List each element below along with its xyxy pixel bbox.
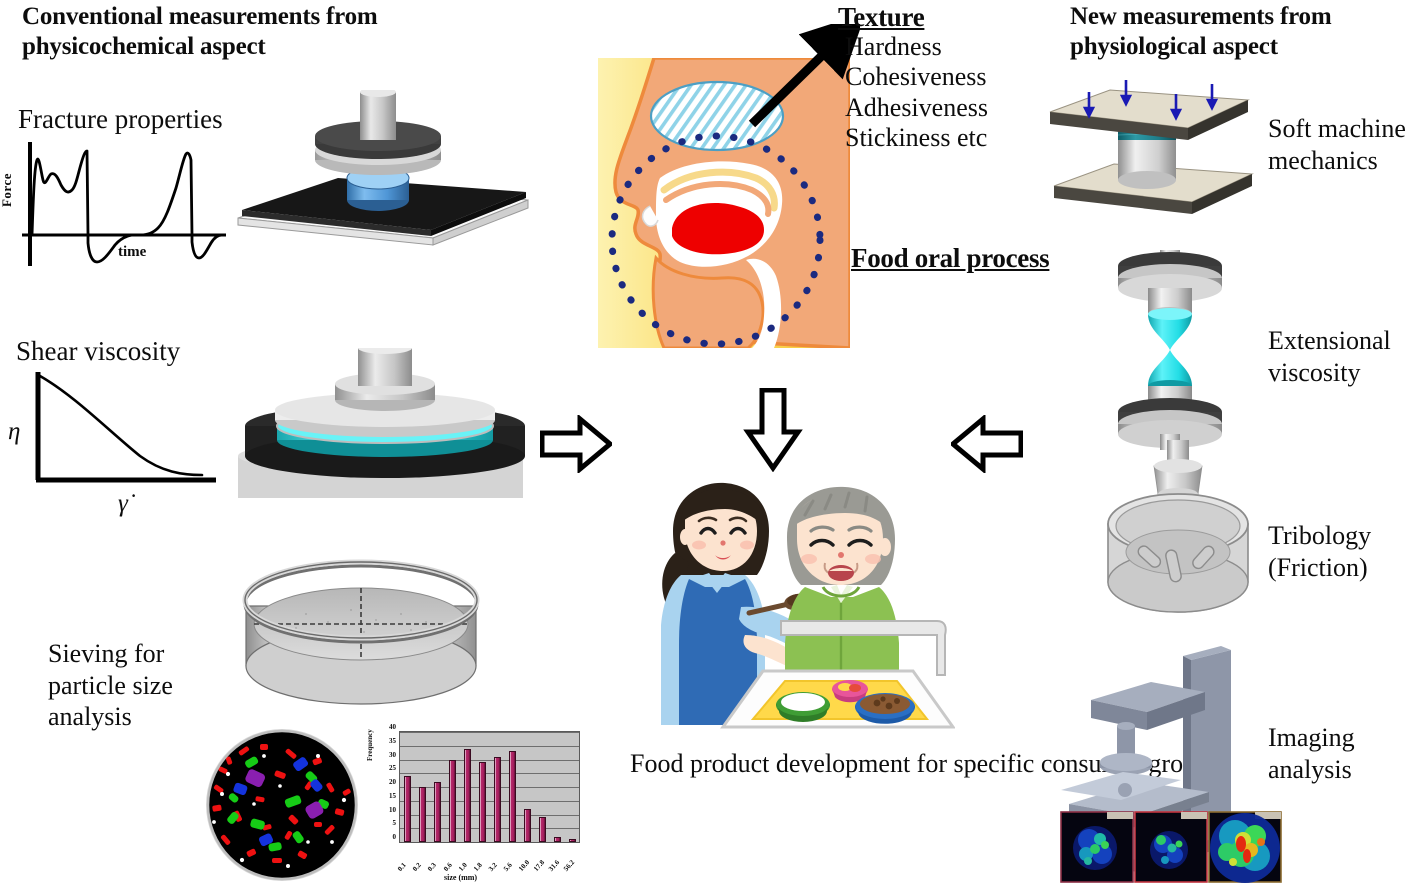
histogram-x-tick: 1.0 xyxy=(457,861,469,873)
texture-pointer-arrow xyxy=(740,24,860,134)
histogram-y-tick: 15 xyxy=(389,792,396,800)
histogram-y-tick: 25 xyxy=(389,764,396,772)
tribology-friction-illustration xyxy=(1082,440,1282,660)
extensional-viscosity-illustration xyxy=(1098,250,1260,450)
histogram-bar xyxy=(434,782,441,843)
texture-attribute-0: Hardness xyxy=(845,32,988,62)
histogram-gridline xyxy=(400,815,579,816)
texture-attribute-1: Cohesiveness xyxy=(845,62,988,92)
arrow-left-to-center xyxy=(951,415,1023,473)
histogram-bar xyxy=(479,762,486,842)
shear-viscosity-title: Shear viscosity xyxy=(16,335,180,367)
texture-attribute-2: Adhesiveness xyxy=(845,93,988,123)
sieve-illustration xyxy=(236,548,486,723)
histogram-y-tick: 5 xyxy=(393,819,397,827)
rheometer-illustration xyxy=(230,348,540,508)
fracture-properties-title: Fracture properties xyxy=(18,103,223,135)
texture-attribute-list: HardnessCohesivenessAdhesivenessStickine… xyxy=(845,32,988,154)
histogram-y-tick: 0 xyxy=(393,833,397,841)
extensional-viscosity-label: Extensional viscosity xyxy=(1268,325,1419,388)
histogram-gridline xyxy=(400,773,579,774)
histogram-bar xyxy=(419,787,426,842)
histogram-x-tick: 1.8 xyxy=(472,861,484,873)
histogram-x-tick: 0.1 xyxy=(396,861,408,873)
tribology-label: Tribology (Friction) xyxy=(1268,520,1419,583)
histogram-y-tick: 30 xyxy=(389,751,396,759)
caregiver-feeding-elderly-illustration xyxy=(645,475,955,730)
histogram-x-tick: 56.2 xyxy=(562,859,576,873)
histogram-bar xyxy=(494,757,501,842)
fracture-properties-chart xyxy=(8,138,230,273)
particle-analysis-image xyxy=(192,726,372,884)
particle-size-histogram: Frequency size (mm) 0510152025303540 0.1… xyxy=(372,727,584,885)
histogram-x-tick: 31.6 xyxy=(547,859,561,873)
histogram-gridline xyxy=(400,828,579,829)
imaging-analysis-label: Imaging analysis xyxy=(1268,722,1419,785)
histogram-y-tick: 10 xyxy=(389,806,396,814)
histogram-x-tick: 3.2 xyxy=(487,861,499,873)
histogram-bar xyxy=(524,809,531,842)
histogram-y-tick: 40 xyxy=(389,723,396,731)
histogram-y-tick: 35 xyxy=(389,737,396,745)
sieving-label: Sieving for particle size analysis xyxy=(48,638,223,733)
histogram-gridline xyxy=(400,801,579,802)
arrow-right-to-center xyxy=(540,415,612,473)
food-oral-process-heading: Food oral process xyxy=(851,243,1049,274)
histogram-gridline xyxy=(400,787,579,788)
histogram-x-tick: 0.6 xyxy=(442,861,454,873)
histogram-bar xyxy=(404,776,411,842)
histogram-bar xyxy=(464,749,471,843)
left-column-title: Conventional measurements from physicoch… xyxy=(22,2,452,61)
texture-analyzer-illustration xyxy=(228,90,538,260)
histogram-x-axis-label: size (mm) xyxy=(444,873,477,882)
histogram-gridline xyxy=(400,746,579,747)
shear-y-axis-label: η xyxy=(8,418,20,446)
histogram-x-tick: 0.2 xyxy=(411,861,423,873)
arrow-down-to-center xyxy=(743,388,803,472)
histogram-gridline xyxy=(400,732,579,733)
histogram-bar xyxy=(539,817,546,842)
texture-attribute-3: Stickiness etc xyxy=(845,123,988,153)
soft-machine-mechanics-label: Soft machine mechanics xyxy=(1268,113,1419,176)
histogram-bar xyxy=(554,837,561,843)
imaging-analysis-illustration xyxy=(1055,640,1290,886)
shear-viscosity-chart xyxy=(30,368,220,498)
histogram-bar xyxy=(449,760,456,843)
histogram-bar xyxy=(509,751,516,842)
histogram-gridline xyxy=(400,760,579,761)
histogram-x-tick: 0.3 xyxy=(427,861,439,873)
histogram-bar xyxy=(569,839,576,842)
histogram-x-tick: 17.8 xyxy=(532,859,546,873)
histogram-y-tick: 20 xyxy=(389,778,396,786)
histogram-x-tick: 10.0 xyxy=(517,859,531,873)
soft-machine-mechanics-illustration xyxy=(1040,78,1265,218)
texture-heading: Texture xyxy=(838,2,924,33)
histogram-x-tick: 5.6 xyxy=(502,861,514,873)
right-column-title: New measurements from physiological aspe… xyxy=(1070,2,1419,61)
